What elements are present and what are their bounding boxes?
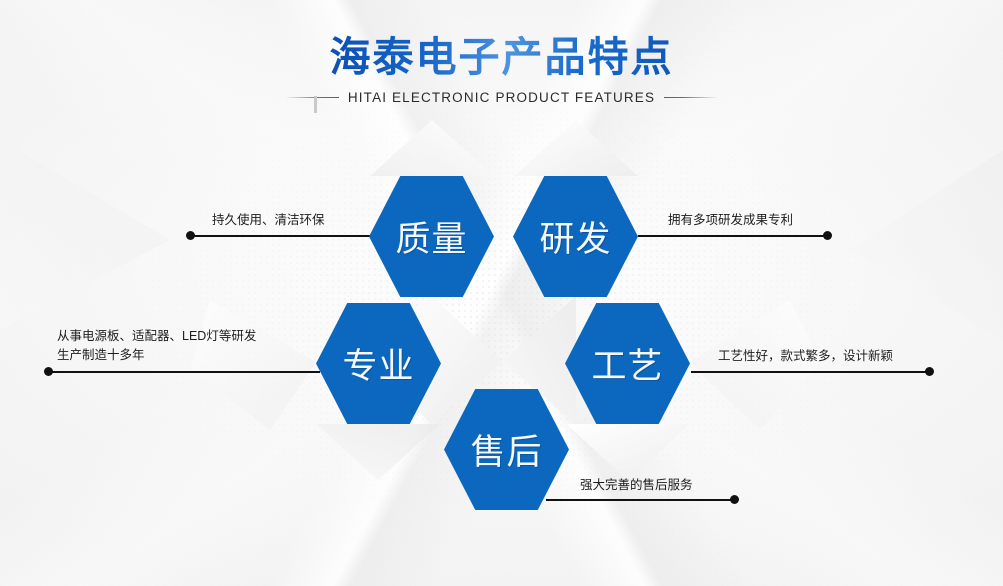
callout-label-aftersales: 强大完善的售后服务 — [580, 476, 693, 495]
connector-dot-rnd — [823, 231, 832, 240]
hex-node-rnd-label: 研发 — [539, 211, 611, 262]
hex-node-quality-label: 质量 — [395, 211, 467, 262]
connector-line-aftersales — [546, 499, 736, 501]
hex-node-aftersales-label: 售后 — [470, 424, 542, 475]
connector-line-quality — [192, 235, 374, 237]
page-subtitle: HITAI ELECTRONIC PRODUCT FEATURES — [348, 90, 655, 105]
subtitle-rule-left — [285, 97, 339, 98]
connector-dot-aftersales — [730, 495, 739, 504]
title-accent-tick — [314, 96, 317, 113]
page-subtitle-row: HITAI ELECTRONIC PRODUCT FEATURES — [0, 90, 1003, 105]
subtitle-rule-right — [664, 97, 718, 98]
connector-dot-process — [925, 367, 934, 376]
callout-label-professional-line1: 从事电源板、适配器、LED灯等研发 — [57, 327, 307, 346]
hex-node-process-label: 工艺 — [591, 338, 663, 389]
page-title: 海泰电子产品特点 — [330, 34, 674, 81]
callout-label-rnd: 拥有多项研发成果专利 — [668, 211, 793, 230]
connector-line-rnd — [638, 235, 830, 237]
connector-line-process — [691, 371, 931, 373]
callout-label-process: 工艺性好，款式繁多，设计新颖 — [718, 347, 893, 366]
callout-label-professional: 从事电源板、适配器、LED灯等研发 生产制造十多年 — [57, 327, 307, 365]
page-header: 海泰电子产品特点 HITAI ELECTRONIC PRODUCT FEATUR… — [0, 34, 1003, 105]
callout-label-professional-line2: 生产制造十多年 — [57, 346, 307, 365]
callout-label-quality: 持久使用、清洁环保 — [212, 211, 325, 230]
connector-line-professional — [50, 371, 320, 373]
feature-diagram-page: 海泰电子产品特点 HITAI ELECTRONIC PRODUCT FEATUR… — [0, 0, 1003, 586]
hex-node-professional-label: 专业 — [342, 338, 414, 389]
connector-dot-quality — [186, 231, 195, 240]
connector-dot-professional — [44, 367, 53, 376]
